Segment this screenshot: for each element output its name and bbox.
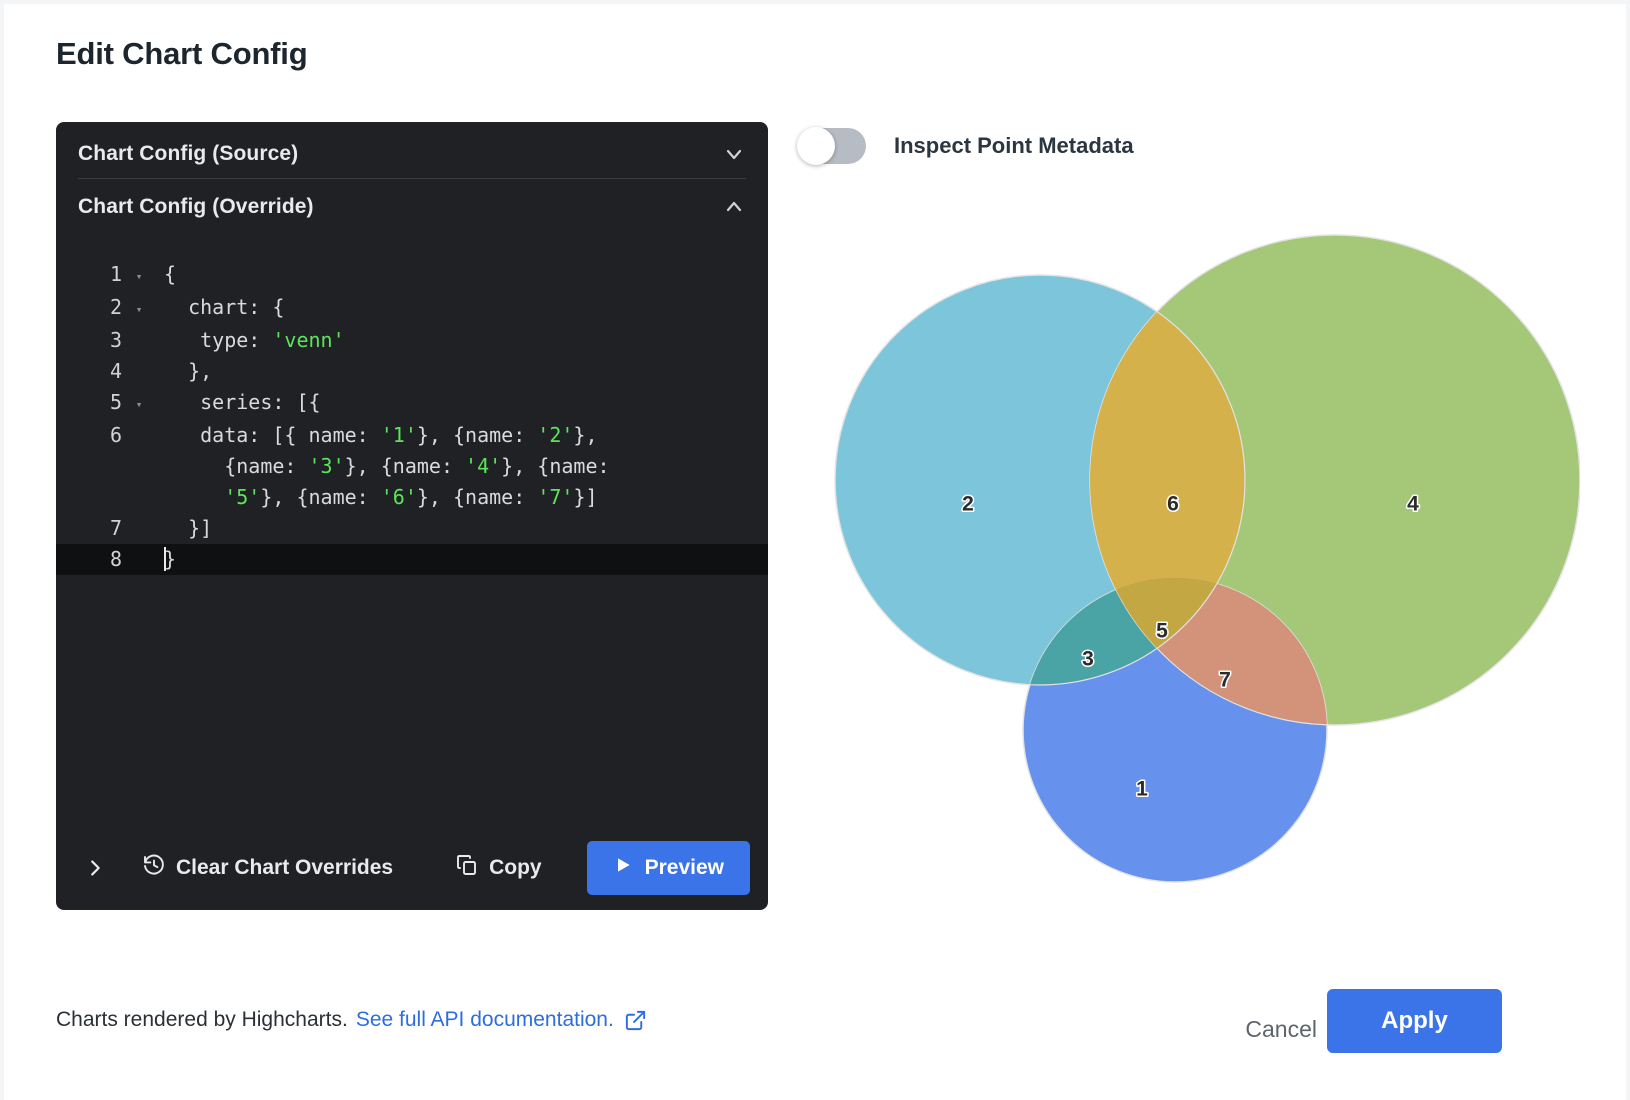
api-documentation-link[interactable]: See full API documentation. <box>356 1008 614 1032</box>
chevron-down-icon[interactable] <box>722 142 746 166</box>
inspect-point-metadata-row: Inspect Point Metadata <box>798 128 1134 164</box>
fold-spacer <box>128 451 150 453</box>
venn-label-1: 1 <box>1136 778 1148 801</box>
venn-label-4: 4 <box>1407 493 1419 516</box>
line-number: 4 <box>56 356 128 387</box>
clear-chart-overrides-label: Clear Chart Overrides <box>176 856 393 880</box>
venn-svg: 2643571 <box>790 205 1580 895</box>
code-line[interactable]: {name: '3'}, {name: '4'}, {name: <box>56 451 768 482</box>
code-text: chart: { <box>164 292 284 323</box>
cancel-button[interactable]: Cancel <box>1235 1008 1327 1051</box>
code-line[interactable]: 1▾{ <box>56 259 768 292</box>
fold-spacer <box>128 420 150 422</box>
inspect-point-metadata-toggle[interactable] <box>798 128 866 164</box>
code-line[interactable]: 6 data: [{ name: '1'}, {name: '2'}, <box>56 420 768 451</box>
venn-regions <box>835 235 1580 882</box>
code-text: type: 'venn' <box>164 325 345 356</box>
code-line[interactable]: '5'}, {name: '6'}, {name: '7'}] <box>56 482 768 513</box>
copy-label: Copy <box>489 856 542 880</box>
code-line[interactable]: 5▾ series: [{ <box>56 387 768 420</box>
code-line[interactable]: 7 }] <box>56 513 768 544</box>
line-number: 3 <box>56 325 128 356</box>
line-number: 6 <box>56 420 128 451</box>
chart-config-editor-panel: Chart Config (Source) Chart Config (Over… <box>56 122 768 910</box>
line-number: 2 <box>56 292 128 323</box>
code-text: data: [{ name: '1'}, {name: '2'}, <box>164 420 598 451</box>
footer-note: Charts rendered by Highcharts. See full … <box>56 1008 647 1032</box>
window-edge-top <box>0 0 1630 4</box>
code-line[interactable]: 2▾ chart: { <box>56 292 768 325</box>
code-text: {name: '3'}, {name: '4'}, {name: <box>164 451 610 482</box>
chart-config-source-header[interactable]: Chart Config (Source) <box>56 122 768 178</box>
chevron-right-icon[interactable] <box>78 851 112 885</box>
line-number: 8 <box>56 544 128 575</box>
code-text: { <box>164 259 176 290</box>
window-edge-left <box>0 0 4 1100</box>
inspect-point-metadata-label: Inspect Point Metadata <box>894 133 1134 159</box>
line-number: 5 <box>56 387 128 418</box>
fold-spacer <box>128 544 150 546</box>
chart-config-override-header[interactable]: Chart Config (Override) <box>56 179 768 235</box>
toggle-knob <box>797 127 835 165</box>
play-icon <box>613 855 633 881</box>
venn-label-3: 3 <box>1082 648 1094 671</box>
page-title: Edit Chart Config <box>56 36 307 72</box>
code-text: }, <box>164 356 212 387</box>
code-line[interactable]: 4 }, <box>56 356 768 387</box>
fold-spacer <box>128 513 150 515</box>
code-text: series: [{ <box>164 387 321 418</box>
fold-arrow-icon[interactable]: ▾ <box>128 292 150 325</box>
copy-button[interactable]: Copy <box>443 843 554 893</box>
chevron-up-icon[interactable] <box>722 195 746 219</box>
fold-arrow-icon[interactable]: ▾ <box>128 387 150 420</box>
code-text: '5'}, {name: '6'}, {name: '7'}] <box>164 482 598 513</box>
venn-label-5: 5 <box>1156 620 1168 643</box>
venn-label-7: 7 <box>1219 669 1231 692</box>
fold-spacer <box>128 482 150 484</box>
history-undo-icon <box>142 853 166 883</box>
footer-credit-text: Charts rendered by Highcharts. <box>56 1008 348 1032</box>
code-line[interactable]: 3 type: 'venn' <box>56 325 768 356</box>
code-line[interactable]: 8} <box>56 544 768 575</box>
code-editor[interactable]: 1▾{2▾ chart: {3 type: 'venn'4 },5▾ serie… <box>56 259 768 826</box>
copy-icon <box>455 853 479 883</box>
code-text: } <box>164 544 176 575</box>
window-edge-right <box>1626 0 1630 1100</box>
venn-label-6: 6 <box>1167 493 1179 516</box>
apply-button[interactable]: Apply <box>1327 989 1502 1053</box>
chart-config-override-label: Chart Config (Override) <box>78 195 314 219</box>
clear-chart-overrides-button[interactable]: Clear Chart Overrides <box>130 843 405 893</box>
line-number: 7 <box>56 513 128 544</box>
fold-spacer <box>128 325 150 327</box>
venn-label-2: 2 <box>962 493 974 516</box>
fold-arrow-icon[interactable]: ▾ <box>128 259 150 292</box>
line-number: 1 <box>56 259 128 290</box>
editor-toolbar: Clear Chart Overrides Copy Preview <box>56 826 768 910</box>
chart-config-source-label: Chart Config (Source) <box>78 142 298 166</box>
code-text: }] <box>164 513 212 544</box>
preview-button[interactable]: Preview <box>587 841 750 895</box>
fold-spacer <box>128 356 150 358</box>
venn-chart[interactable]: 2643571 <box>790 205 1580 895</box>
external-link-icon[interactable] <box>624 1009 647 1032</box>
preview-label: Preview <box>645 856 724 880</box>
